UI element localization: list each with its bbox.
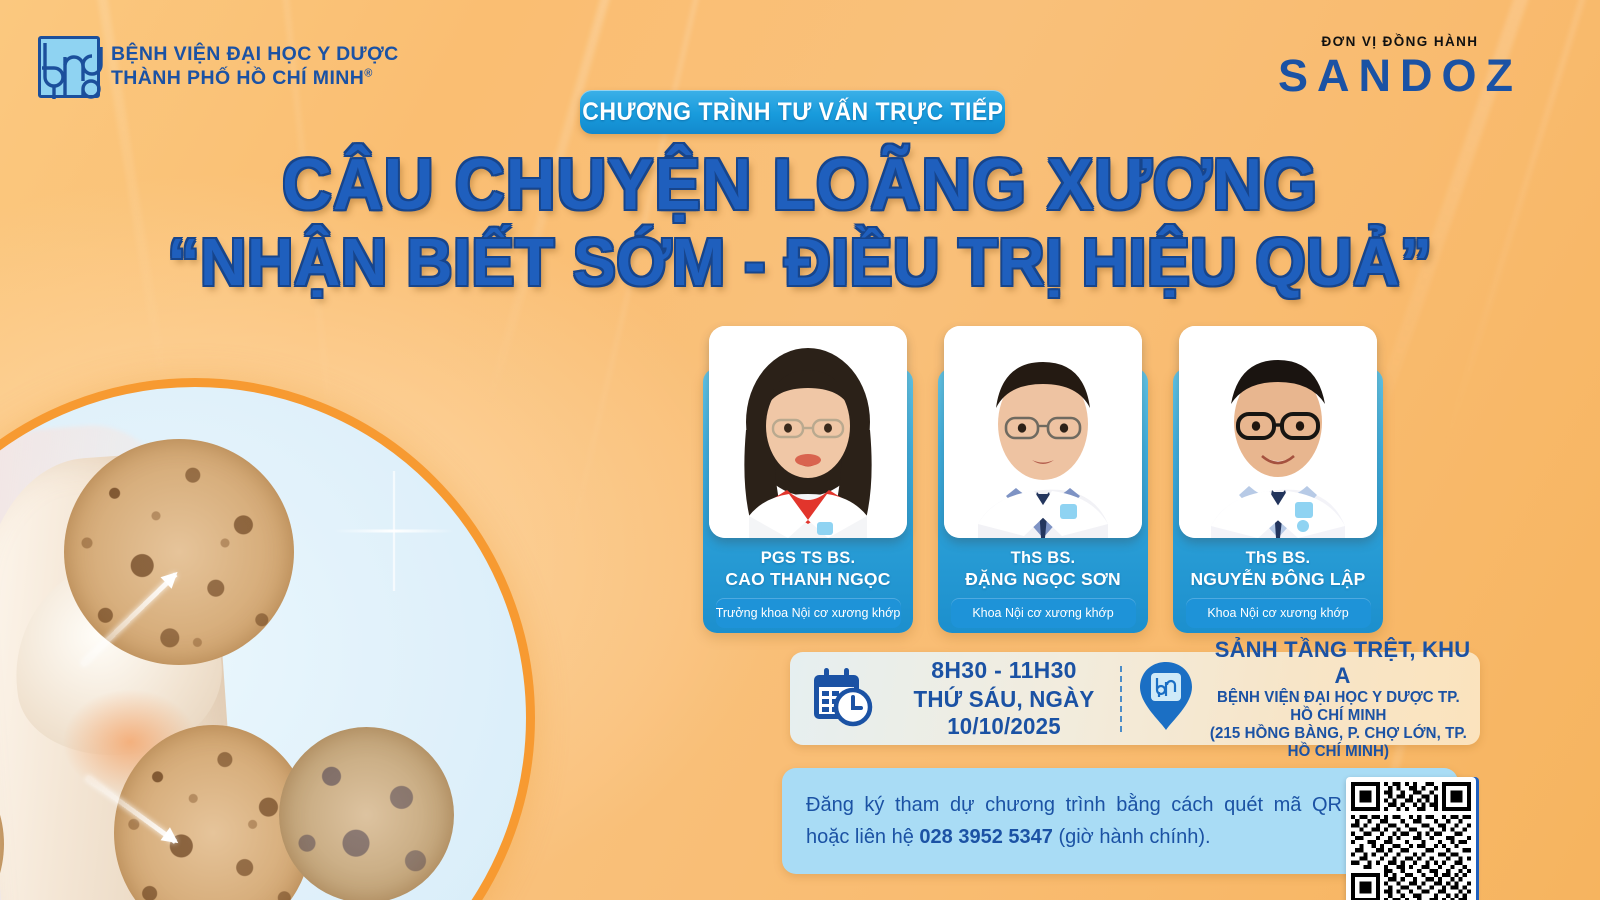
registration-line2-prefix: hoặc liên hệ (806, 826, 919, 848)
doctor-card[interactable]: ThS BS. NGUYỄN ĐÔNG LẬP Khoa Nội cơ xươn… (1173, 368, 1383, 633)
hospital-brand: BỆNH VIỆN ĐẠI HỌC Y DƯỢC THÀNH PHỐ HỒ CH… (38, 36, 399, 98)
program-badge: CHƯƠNG TRÌNH TƯ VẤN TRỰC TIẾP (580, 90, 1005, 134)
doctor-portrait-male-2 (1179, 326, 1377, 538)
doctor-degree: PGS TS BS. (725, 548, 890, 569)
event-poster: BỆNH VIỆN ĐẠI HỌC Y DƯỢC THÀNH PHỐ HỒ CH… (0, 0, 1600, 900)
sparkle-icon (334, 471, 454, 591)
event-place-title: SẢNH TẦNG TRỆT, KHU A (1205, 637, 1480, 689)
event-time-block: 8H30 - 11H30 THỨ SÁU, NGÀY 10/10/2025 (790, 657, 1120, 740)
event-place-line2: BỆNH VIỆN ĐẠI HỌC Y DƯỢC TP. HỒ CHÍ MINH (1205, 689, 1472, 725)
doctor-name-block: PGS TS BS. CAO THANH NGỌC (725, 548, 890, 591)
registration-line1: Đăng ký tham dự chương trình bằng cách q… (806, 789, 1342, 821)
umc-logo-icon (38, 36, 100, 98)
bone-tissue-closeup (279, 727, 454, 900)
hospital-name-line2: THÀNH PHỐ HỒ CHÍ MINH (111, 67, 364, 89)
event-info-bar: 8H30 - 11H30 THỨ SÁU, NGÀY 10/10/2025 (790, 652, 1480, 745)
doctor-name-block: ThS BS. NGUYỄN ĐÔNG LẬP (1190, 548, 1365, 591)
registration-box: Đăng ký tham dự chương trình bằng cách q… (782, 768, 1458, 874)
doctor-department: Khoa Nội cơ xương khớp (951, 598, 1136, 628)
event-place-line3: (215 HỒNG BÀNG, P. CHỢ LỚN, TP. HỒ CHÍ M… (1205, 725, 1472, 761)
doctor-degree: ThS BS. (1190, 548, 1365, 569)
program-badge-label: CHƯƠNG TRÌNH TƯ VẤN TRỰC TIẾP (582, 98, 1003, 127)
doctor-portrait-female (709, 326, 907, 538)
poster-title-sub: “NHẬN BIẾT SỚM - ĐIỀU TRỊ HIỆU QUẢ” (32, 224, 1568, 301)
bone-tissue-closeup (64, 439, 294, 665)
map-pin-icon (1138, 660, 1194, 737)
event-day: THỨ SÁU, NGÀY 10/10/2025 (891, 686, 1116, 740)
event-place-block: SẢNH TẦNG TRỆT, KHU A BỆNH VIỆN ĐẠI HỌC … (1122, 637, 1480, 761)
sponsor-name: SANDOZ (1278, 53, 1522, 98)
poster-title-main: CÂU CHUYỆN LOÃNG XƯƠNG (32, 144, 1568, 226)
registration-text: Đăng ký tham dự chương trình bằng cách q… (782, 789, 1342, 854)
registration-line2-suffix: (giờ hành chính). (1053, 826, 1211, 848)
doctor-degree: ThS BS. (965, 548, 1121, 569)
contact-phone: 028 3952 5347 (919, 826, 1052, 848)
registration-line2: hoặc liên hệ 028 3952 5347 (giờ hành chí… (806, 821, 1342, 853)
doctor-name: NGUYỄN ĐÔNG LẬP (1190, 569, 1365, 591)
doctor-name: ĐẶNG NGỌC SƠN (965, 569, 1121, 591)
doctor-department: Khoa Nội cơ xương khớp (1186, 598, 1371, 628)
doctor-department: Trưởng khoa Nội cơ xương khớp (716, 598, 901, 628)
doctor-card[interactable]: PGS TS BS. CAO THANH NGỌC Trưởng khoa Nộ… (703, 368, 913, 633)
doctor-name: CAO THANH NGỌC (725, 569, 890, 591)
sponsor-label: ĐƠN VỊ ĐỒNG HÀNH (1278, 34, 1522, 49)
calendar-clock-icon (808, 665, 874, 732)
vertical-divider (1120, 666, 1122, 732)
doctor-card[interactable]: ThS BS. ĐẶNG NGỌC SƠN Khoa Nội cơ xương … (938, 368, 1148, 633)
qr-code-icon[interactable] (1346, 777, 1476, 900)
doctor-list: PGS TS BS. CAO THANH NGỌC Trưởng khoa Nộ… (703, 368, 1383, 633)
doctor-name-block: ThS BS. ĐẶNG NGỌC SƠN (965, 548, 1121, 591)
osteoporosis-bone-illustration (0, 378, 535, 900)
hospital-name: BỆNH VIỆN ĐẠI HỌC Y DƯỢC THÀNH PHỐ HỒ CH… (111, 43, 399, 91)
event-time: 8H30 - 11H30 (888, 657, 1120, 684)
doctor-portrait-male-1 (944, 326, 1142, 538)
sponsor-block: ĐƠN VỊ ĐỒNG HÀNH SANDOZ (1278, 34, 1522, 98)
registered-mark: ® (364, 68, 373, 80)
hospital-name-line1: BỆNH VIỆN ĐẠI HỌC Y DƯỢC (111, 43, 399, 67)
